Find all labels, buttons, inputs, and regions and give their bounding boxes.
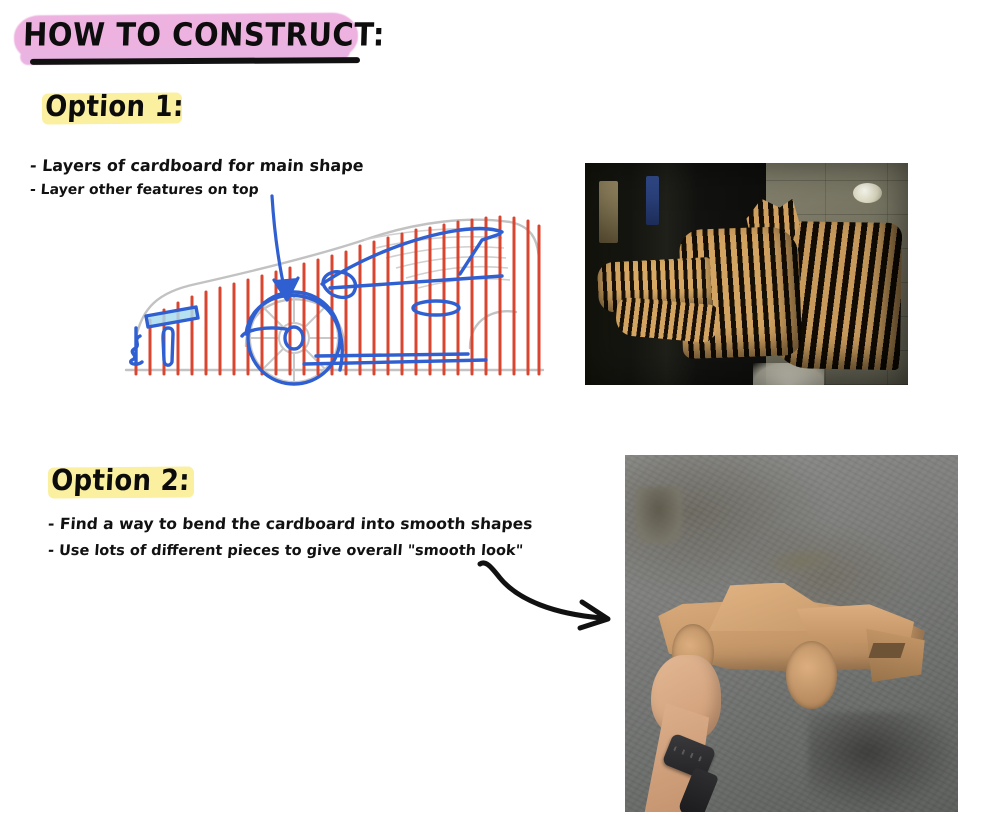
curved-arrow-to-photo	[470, 556, 630, 636]
option-1-heading: Option 1:	[46, 88, 185, 118]
layered-cardboard-wolf-head-photo	[585, 163, 908, 385]
cardboard-sports-car-model-photo	[625, 455, 958, 812]
photo2-wall-stain-left	[635, 487, 682, 544]
layered-car-side-sketch	[118, 188, 548, 393]
option-2-bullet-2: - Use lots of different pieces to give o…	[47, 539, 533, 563]
photo2-arm	[642, 655, 795, 812]
option-2-bullet-1: - Find a way to bend the cardboard into …	[47, 512, 533, 536]
page-title: HOW TO CONSTRUCT:	[14, 6, 390, 47]
photo2-car-headlight	[869, 643, 906, 658]
option-2-heading-text: Option 2:	[50, 462, 190, 496]
option-1-heading-text: Option 1:	[44, 88, 184, 122]
option-1-bullet-1: - Layers of cardboard for main shape	[29, 155, 364, 177]
page-title-text: HOW TO CONSTRUCT:	[13, 6, 390, 51]
option-2-bullets: - Find a way to bend the cardboard into …	[48, 512, 532, 563]
title-underline	[30, 57, 360, 65]
photo1-vignette	[585, 163, 908, 385]
option-2-heading: Option 2:	[52, 462, 191, 492]
slide-canvas: HOW TO CONSTRUCT: Option 1: - Layers of …	[0, 0, 990, 828]
photo2-wall-shadow	[808, 712, 958, 812]
